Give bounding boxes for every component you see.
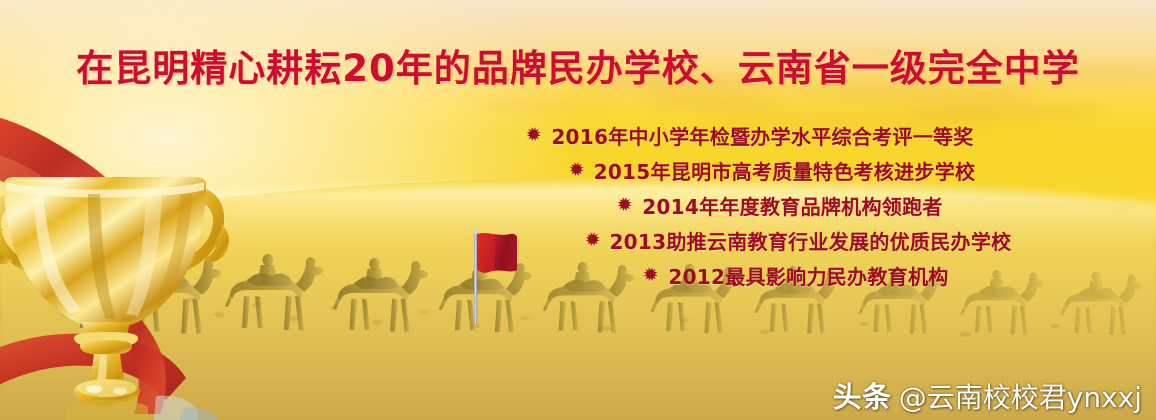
cloud-wisp-icon bbox=[480, 100, 620, 112]
page-title: 在昆明精心耕耘20年的品牌民办学校、云南省一级完全中学 bbox=[0, 38, 1156, 92]
list-item: ✹ 2014年年度教育品牌机构领跑者 bbox=[430, 188, 1070, 223]
award-list: ✹ 2016年中小学年检暨办学水平综合考评一等奖 ✹ 2015年昆明市高考质量特… bbox=[430, 118, 1070, 293]
award-text: 2016年中小学年检暨办学水平综合考评一等奖 bbox=[551, 121, 973, 150]
list-item: ✹ 2016年中小学年检暨办学水平综合考评一等奖 bbox=[430, 118, 1070, 153]
award-text: 2012最具影响力民办教育机构 bbox=[668, 261, 948, 290]
watermark-handle: @云南校校君ynxxj bbox=[899, 376, 1142, 416]
watermark: 头条 @云南校校君ynxxj bbox=[833, 374, 1142, 416]
list-item: ✹ 2013助推云南教育行业发展的优质民办学校 bbox=[430, 223, 1070, 258]
list-item: ✹ 2012最具影响力民办教育机构 bbox=[430, 258, 1070, 293]
gold-trophy-icon bbox=[0, 78, 270, 420]
star-bullet-icon: ✹ bbox=[615, 194, 636, 217]
award-text: 2013助推云南教育行业发展的优质民办学校 bbox=[609, 226, 1011, 255]
award-text: 2015年昆明市高考质量特色考核进步学校 bbox=[594, 156, 976, 185]
watermark-brand: 头条 bbox=[833, 374, 892, 416]
promo-banner: 在昆明精心耕耘20年的品牌民办学校、云南省一级完全中学 ✹ 2016年中小学年检… bbox=[0, 0, 1156, 420]
star-bullet-icon: ✹ bbox=[641, 264, 662, 287]
cloud-wisp-icon bbox=[640, 96, 790, 109]
star-bullet-icon: ✹ bbox=[566, 159, 587, 182]
star-bullet-icon: ✹ bbox=[582, 229, 603, 252]
award-text: 2014年年度教育品牌机构领跑者 bbox=[642, 191, 942, 220]
star-bullet-icon: ✹ bbox=[524, 124, 545, 147]
list-item: ✹ 2015年昆明市高考质量特色考核进步学校 bbox=[430, 153, 1070, 188]
